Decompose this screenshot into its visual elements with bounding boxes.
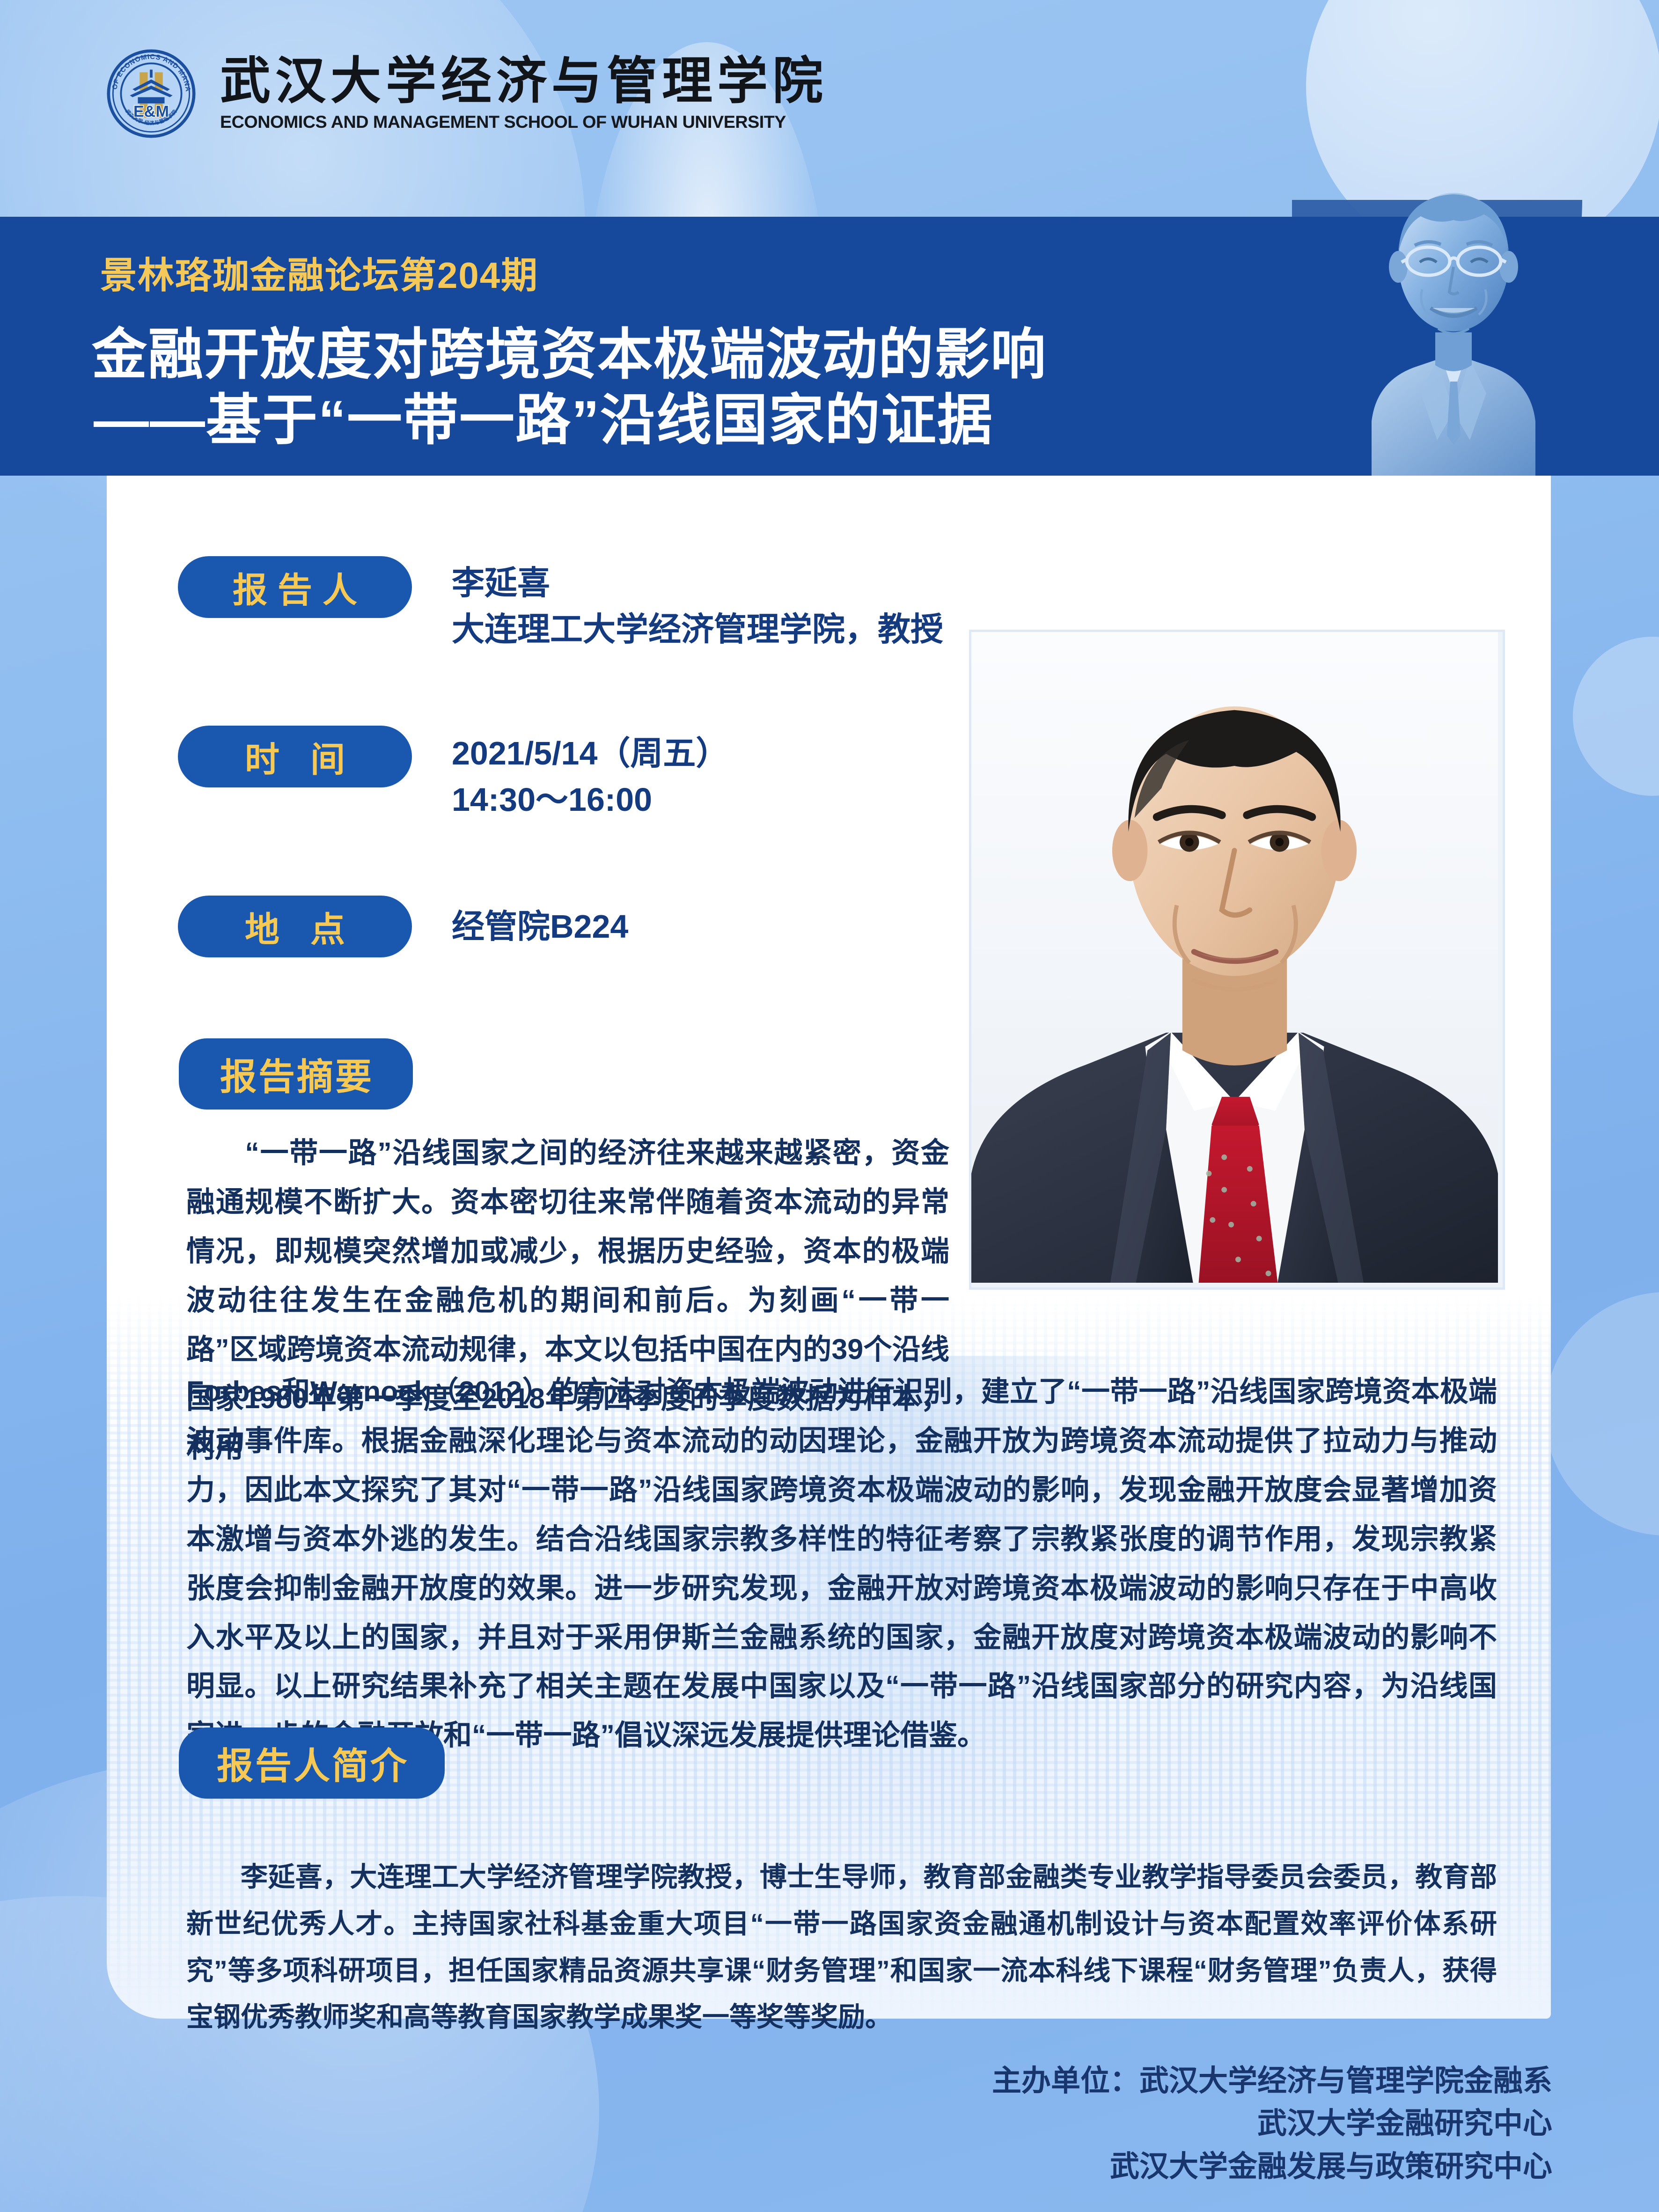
background-circle-right-upper (1573, 637, 1659, 796)
school-logo-row: SCHOOL OF ECONOMICS AND MANAGEMENT 武汉大学 … (107, 49, 828, 138)
university-seal-icon: SCHOOL OF ECONOMICS AND MANAGEMENT 武汉大学 … (107, 49, 196, 138)
school-name-en: ECONOMICS AND MANAGEMENT SCHOOL OF WUHAN… (220, 112, 840, 132)
svg-text:SCHOOL OF ECONOMICS AND MANAGE: SCHOOL OF ECONOMICS AND MANAGEMENT (107, 49, 191, 92)
bio-text: 李延喜，大连理工大学经济管理学院教授，博士生导师，教育部金融类专业教学指导委员会… (186, 1854, 1497, 2041)
background-circle-right-lower (1545, 1292, 1659, 1536)
lecture-title-line2: ——基于“一带一路”沿线国家的证据 (94, 375, 993, 455)
organizers-footer: 主办单位：武汉大学经济与管理学院金融系 武汉大学金融研究中心 武汉大学金融发展与… (992, 2060, 1552, 2188)
title-banner: 景林珞珈金融论坛第204期 金融开放度对跨境资本极端波动的影响 ——基于“一带一… (0, 217, 1659, 476)
school-name-cn: 武汉大学经济与管理学院 (220, 55, 828, 108)
venue-value: 经管院B224 (452, 904, 628, 950)
time-label-pill: 时间 (178, 726, 412, 787)
venue-label-pill: 地点 (178, 896, 412, 957)
bio-label-pill: 报告人简介 (179, 1727, 445, 1799)
svg-text:E&M: E&M (133, 103, 169, 120)
forum-series-label: 景林珞珈金融论坛第204期 (100, 246, 538, 299)
speaker-photo (969, 630, 1505, 1290)
poster-root: SCHOOL OF ECONOMICS AND MANAGEMENT 武汉大学 … (0, 0, 1659, 2212)
abstract-text-full-width: Forbes和Warnock（2012）的方法对资本极端波动进行识别，建立了“一… (186, 1367, 1497, 1760)
speaker-value: 李延喜 大连理工大学经济管理学院，教授 (452, 560, 943, 653)
time-value: 2021/5/14（周五） 14:30～16:00 (452, 730, 728, 823)
speaker-label-pill: 报告人 (178, 556, 412, 618)
abstract-label-pill: 报告摘要 (179, 1038, 413, 1110)
